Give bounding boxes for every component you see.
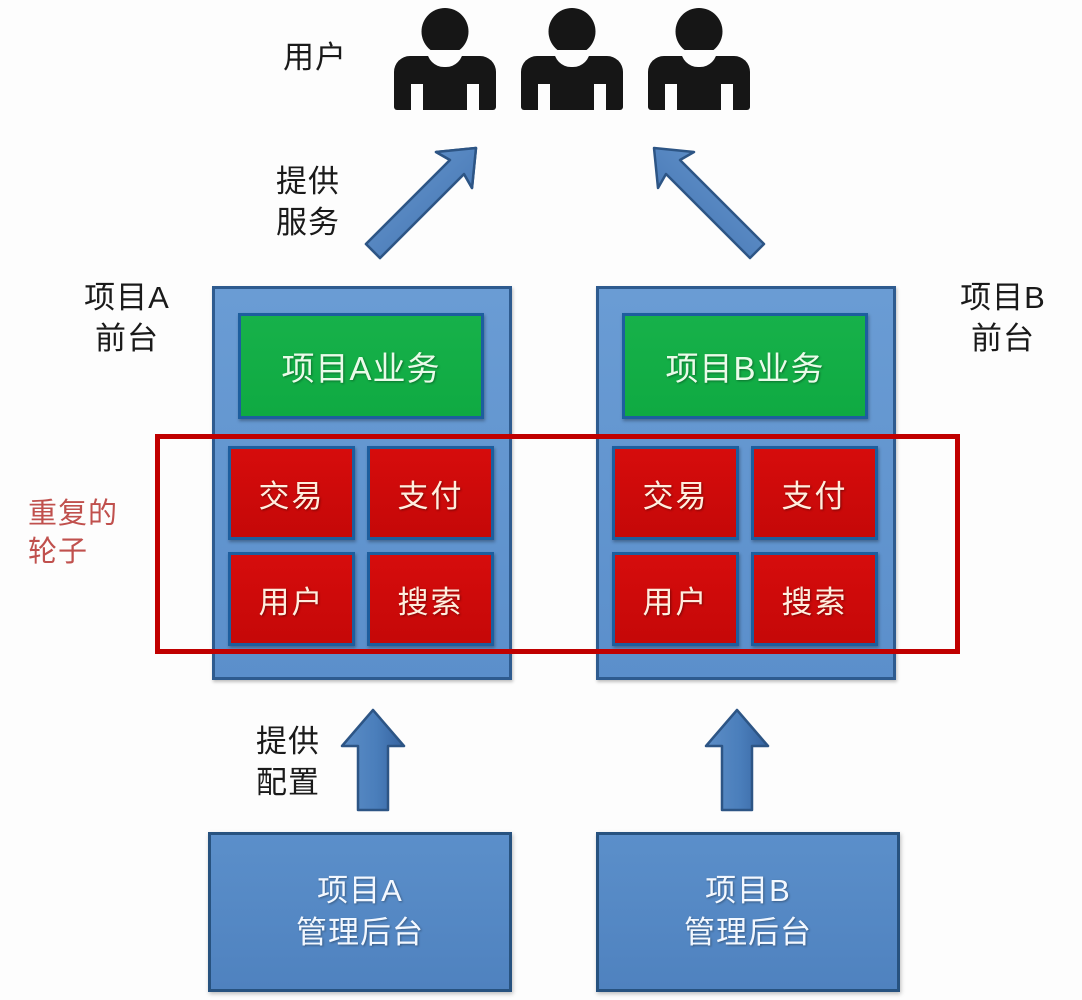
person-arm-gap-left <box>538 84 550 110</box>
project-a-module-search[interactable]: 搜索 <box>367 552 494 646</box>
project-a-frontend-label: 项目A 前台 <box>52 278 202 360</box>
person-head <box>676 8 723 55</box>
person-icon <box>521 8 623 110</box>
duplicate-wheels-note: 重复的 轮子 <box>28 496 168 571</box>
provide-service-arrow-left <box>360 143 480 263</box>
person-arm-gap-left <box>411 84 423 110</box>
provide-config-arrow-left <box>338 706 408 814</box>
provide-config-label: 提供 配置 <box>228 722 348 804</box>
project-a-module-trade[interactable]: 交易 <box>228 446 355 540</box>
provide-service-arrow-right <box>650 143 770 263</box>
person-arm-gap-right <box>467 84 479 110</box>
users-label: 用户 <box>260 38 370 79</box>
person-arm-gap-right <box>721 84 733 110</box>
project-b-module-trade[interactable]: 交易 <box>612 446 739 540</box>
diagram-canvas: 用户 提供 服务 <box>0 0 1082 1000</box>
project-a-admin-box[interactable]: 项目A 管理后台 <box>208 832 512 992</box>
person-head <box>422 8 469 55</box>
person-arm-gap-left <box>665 84 677 110</box>
person-icon <box>648 8 750 110</box>
project-b-module-payment[interactable]: 支付 <box>751 446 878 540</box>
project-a-module-user[interactable]: 用户 <box>228 552 355 646</box>
person-head <box>549 8 596 55</box>
project-b-admin-box[interactable]: 项目B 管理后台 <box>596 832 900 992</box>
person-arm-gap-right <box>594 84 606 110</box>
project-a-business-box[interactable]: 项目A业务 <box>238 313 484 419</box>
project-a-module-grid: 交易 支付 用户 搜索 <box>228 446 494 646</box>
project-b-module-search[interactable]: 搜索 <box>751 552 878 646</box>
provide-config-arrow-right <box>702 706 772 814</box>
provide-service-label: 提供 服务 <box>248 162 368 244</box>
project-b-frontend-label: 项目B 前台 <box>928 278 1078 360</box>
project-a-module-payment[interactable]: 支付 <box>367 446 494 540</box>
project-b-module-grid: 交易 支付 用户 搜索 <box>612 446 878 646</box>
project-b-business-box[interactable]: 项目B业务 <box>622 313 868 419</box>
person-icon <box>394 8 496 110</box>
project-b-module-user[interactable]: 用户 <box>612 552 739 646</box>
